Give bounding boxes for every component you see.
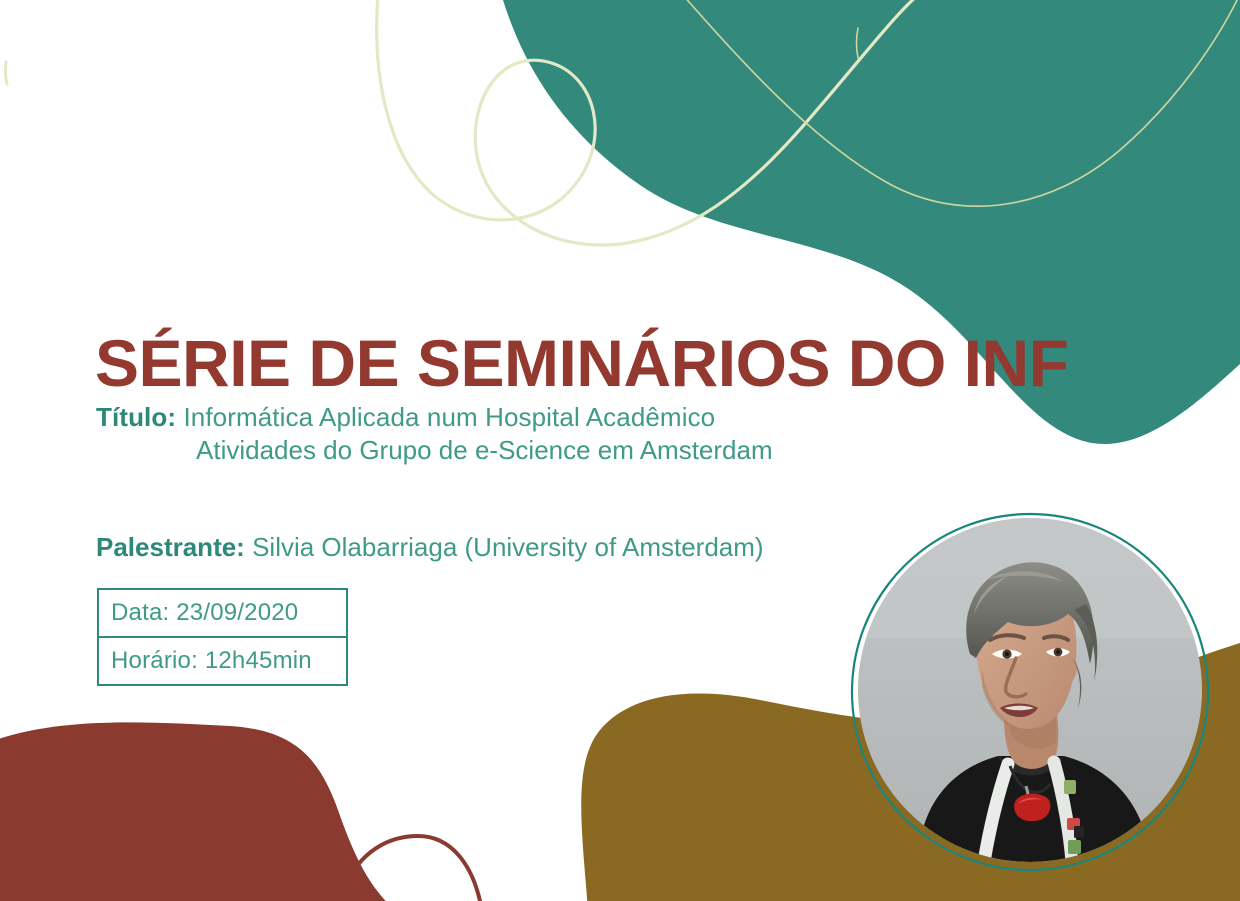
speaker-portrait-illustration — [858, 518, 1202, 862]
title-value-line-1: Informática Aplicada num Hospital Acadêm… — [183, 402, 715, 432]
date-row: Data: 23/09/2020 — [99, 590, 346, 638]
title-value-line-2: Atividades do Grupo de e-Science em Amst… — [196, 435, 773, 465]
page-title: SÉRIE DE SEMINÁRIOS DO INF — [95, 330, 1068, 396]
seminar-title-line-2: Atividades do Grupo de e-Science em Amst… — [96, 434, 996, 467]
speaker-photo — [858, 518, 1202, 862]
speaker-photo-circle — [858, 518, 1202, 862]
time-row: Horário: 12h45min — [99, 638, 346, 684]
date-time-box: Data: 23/09/2020 Horário: 12h45min — [97, 588, 348, 686]
seminar-title-line-1: Título: Informática Aplicada num Hospita… — [96, 401, 996, 434]
title-label: Título: — [96, 402, 176, 432]
seminar-poster: SÉRIE DE SEMINÁRIOS DO INF Título: Infor… — [0, 0, 1240, 901]
speaker-label: Palestrante: — [96, 532, 245, 562]
speaker-value: Silvia Olabarriaga (University of Amster… — [252, 532, 764, 562]
